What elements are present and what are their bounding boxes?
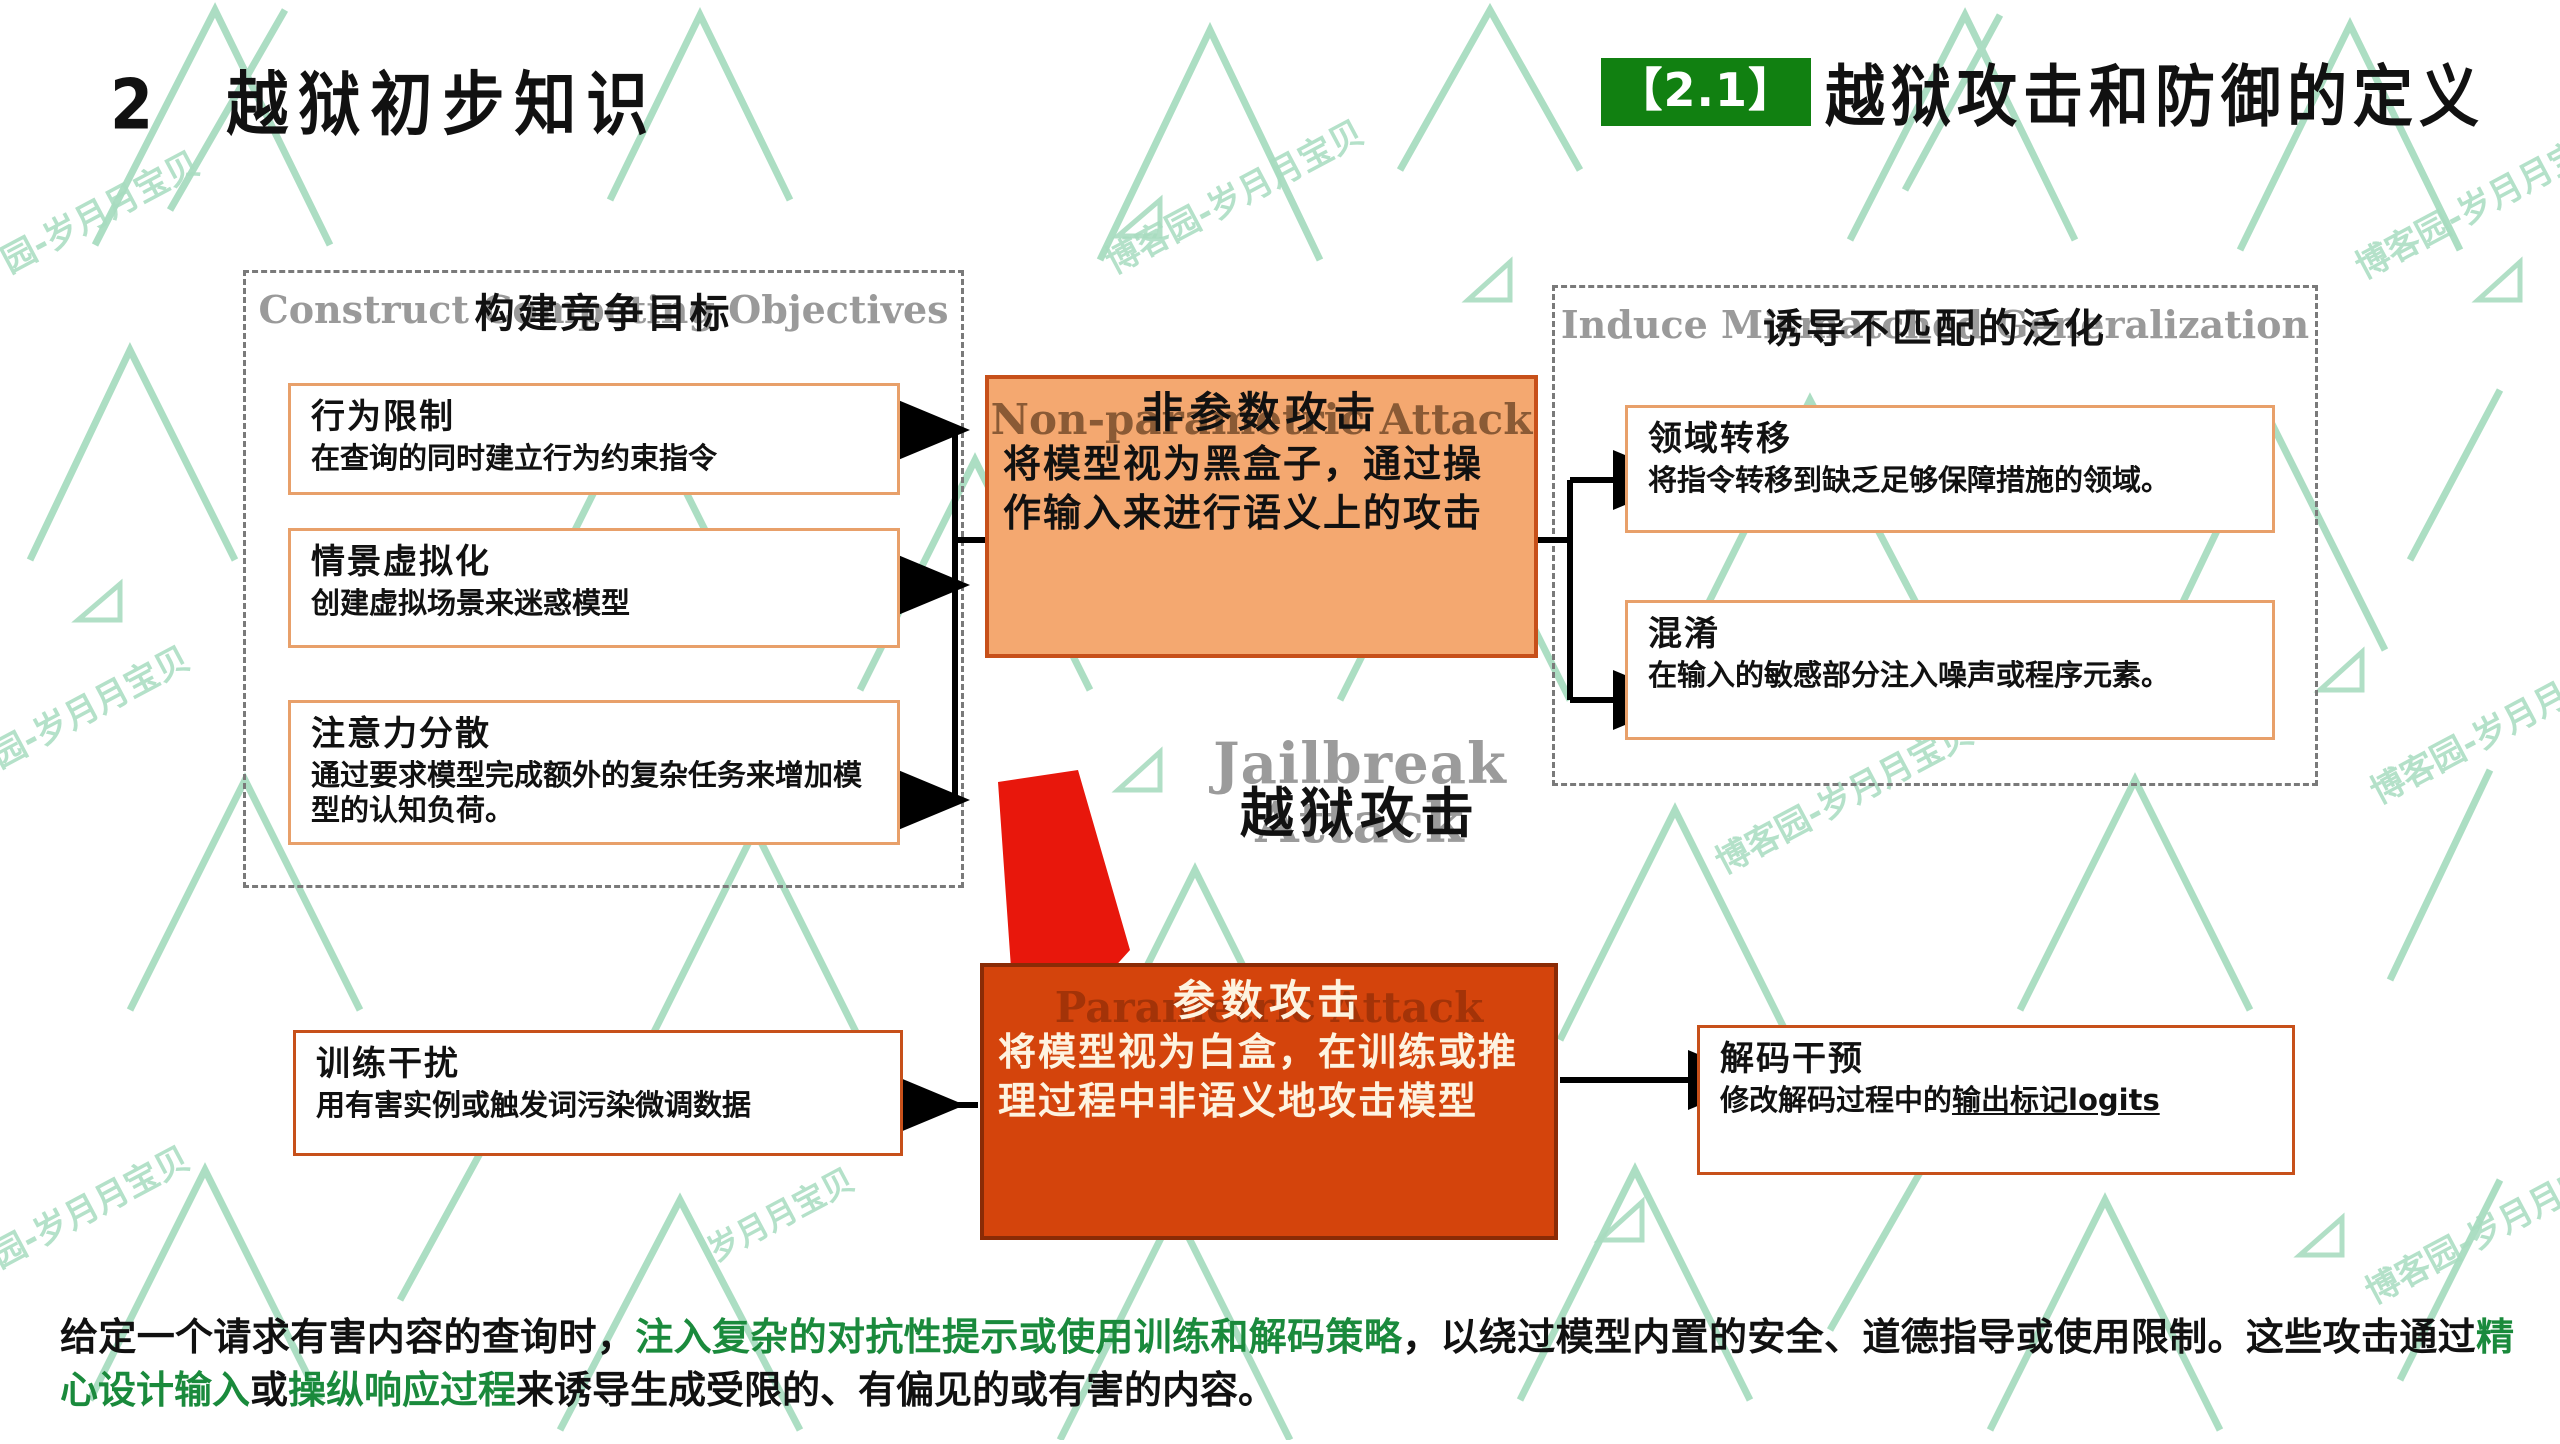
watermark-text: 岁月月宝贝 bbox=[699, 1155, 862, 1271]
card-obfuscation[interactable]: 混淆 在输入的敏感部分注入噪声或程序元素。 bbox=[1625, 600, 2275, 740]
card-title: 情景虚拟化 bbox=[311, 541, 879, 584]
card-desc: 在查询的同时建立行为约束指令 bbox=[311, 441, 879, 476]
card-desc: 通过要求模型完成额外的复杂任务来增加模型的认知负荷。 bbox=[311, 758, 879, 829]
watermark-text: 博客园-岁月月宝贝 bbox=[2360, 636, 2560, 814]
card-title: 行为限制 bbox=[311, 396, 879, 439]
card-title: 混淆 bbox=[1648, 613, 2254, 656]
caption-part-1: 给定一个请求有害内容的查询时， bbox=[60, 1315, 635, 1359]
card-title: 领域转移 bbox=[1648, 418, 2254, 461]
card-decoding-intervention[interactable]: 解码干预 修改解码过程中的输出标记logits bbox=[1697, 1025, 2295, 1175]
subsection-badge: 【2.1】 bbox=[1601, 58, 1812, 126]
card-desc: 创建虚拟场景来迷惑模型 bbox=[311, 586, 879, 621]
group-right-chinese: 诱导不匹配的泛化 bbox=[1763, 296, 2107, 354]
caption-part-3: 或 bbox=[250, 1368, 288, 1412]
section-number: 2 bbox=[110, 64, 163, 146]
hub-nonparametric-title: 非参数攻击 bbox=[989, 387, 1534, 440]
card-title: 注意力分散 bbox=[311, 713, 879, 756]
card-desc: 在输入的敏感部分注入噪声或程序元素。 bbox=[1648, 658, 2254, 693]
hub-parametric-title: 参数攻击 bbox=[984, 975, 1554, 1028]
group-left-heading: Construct Competing Objectives 构建竞争目标 bbox=[246, 287, 961, 332]
caption-highlight-1: 注入复杂的对抗性提示或使用训练和解码策略 bbox=[635, 1315, 1402, 1359]
watermark-text: 园-岁月月宝贝 bbox=[0, 632, 197, 778]
watermark-text: 博客园-岁月月宝贝 bbox=[2355, 1136, 2560, 1314]
card-behavior-restriction[interactable]: 行为限制 在查询的同时建立行为约束指令 bbox=[288, 383, 900, 495]
watermark-text: 园-岁月月宝贝 bbox=[0, 137, 207, 283]
hub-parametric-desc: 将模型视为白盒，在训练或推理过程中非语义地攻击模型 bbox=[984, 1028, 1554, 1127]
card-attention-distraction[interactable]: 注意力分散 通过要求模型完成额外的复杂任务来增加模型的认知负荷。 bbox=[288, 700, 900, 845]
card-desc-prefix: 修改解码过程中的 bbox=[1720, 1083, 1952, 1117]
section-title-text: 越狱初步知识 bbox=[226, 64, 658, 146]
watermark-text: 博客园-岁月月宝贝 bbox=[1095, 106, 1371, 284]
card-domain-shift[interactable]: 领域转移 将指令转移到缺乏足够保障措施的领域。 bbox=[1625, 405, 2275, 533]
jailbreak-attack-label: Jailbreak Attack 越狱攻击 bbox=[1125, 735, 1595, 915]
caption-highlight-3: 操纵响应过程 bbox=[288, 1368, 516, 1412]
card-title: 解码干预 bbox=[1720, 1038, 2274, 1081]
card-desc: 修改解码过程中的输出标记logits bbox=[1720, 1083, 2274, 1118]
card-desc: 用有害实例或触发词污染微调数据 bbox=[316, 1088, 882, 1123]
hub-parametric-attack[interactable]: Parametric Attack 参数攻击 将模型视为白盒，在训练或推理过程中… bbox=[980, 963, 1558, 1240]
hub-nonparametric-desc: 将模型视为黑盒子，通过操作输入来进行语义上的攻击 bbox=[989, 440, 1534, 539]
section-title: 2 越狱初步知识 bbox=[110, 48, 658, 149]
group-right-heading: Induce Mismatched Generalization 诱导不匹配的泛… bbox=[1555, 302, 2315, 347]
jailbreak-attack-chinese: 越狱攻击 bbox=[1125, 769, 1595, 848]
card-title: 训练干扰 bbox=[316, 1043, 882, 1086]
subsection-title-text: 越狱攻击和防御的定义 bbox=[1825, 43, 2485, 140]
card-desc-underlined: 输出标记logits bbox=[1952, 1083, 2160, 1117]
caption-part-4: 来诱导生成受限的、有偏见的或有害的内容。 bbox=[516, 1368, 1276, 1412]
subsection-title-group: 【2.1】 越狱攻击和防御的定义 bbox=[1601, 48, 2486, 135]
caption-part-2: ，以绕过模型内置的安全、道德指导或使用限制。这些攻击通过 bbox=[1402, 1315, 2476, 1359]
hub-nonparametric-attack[interactable]: Non-parametric Attack 非参数攻击 将模型视为黑盒子，通过操… bbox=[985, 375, 1538, 658]
slide-caption: 给定一个请求有害内容的查询时，注入复杂的对抗性提示或使用训练和解码策略，以绕过模… bbox=[60, 1311, 2514, 1416]
card-training-interference[interactable]: 训练干扰 用有害实例或触发词污染微调数据 bbox=[293, 1030, 903, 1156]
card-desc: 将指令转移到缺乏足够保障措施的领域。 bbox=[1648, 463, 2254, 498]
group-left-chinese: 构建竞争目标 bbox=[475, 281, 733, 339]
card-scenario-virtualization[interactable]: 情景虚拟化 创建虚拟场景来迷惑模型 bbox=[288, 528, 900, 648]
watermark-text: 园-岁月月宝贝 bbox=[0, 1132, 197, 1278]
